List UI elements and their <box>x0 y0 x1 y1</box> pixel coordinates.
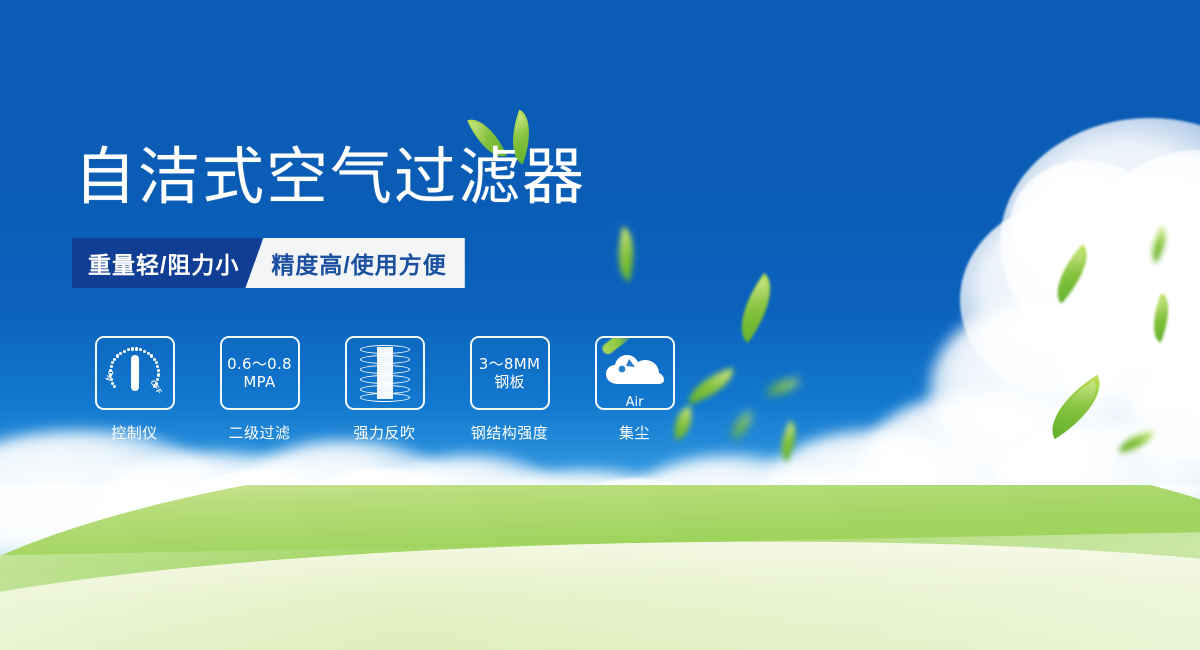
steel-value-line1: 3～8MM <box>479 355 540 373</box>
feature-item-dust[interactable]: Air 集尘 <box>572 336 697 443</box>
feature-label: 二级过滤 <box>228 422 290 443</box>
feature-item-blowback[interactable]: 强力反吹 <box>322 336 447 443</box>
gauge-tick <box>127 348 130 351</box>
page-title: 自洁式空气过滤器 <box>74 146 586 208</box>
gauge-tick <box>123 350 126 353</box>
air-text-label: Air <box>604 395 666 410</box>
air-cloud-icon: Air <box>604 350 666 396</box>
gauge-tick <box>109 373 112 376</box>
feature-item-control[interactable]: NO OFF 控制仪 <box>72 336 197 443</box>
gauge-tick <box>150 354 153 357</box>
gauge-tick <box>156 365 159 368</box>
subtitle-ribbon: 重量轻/阻力小 精度高/使用方便 <box>72 238 465 288</box>
steel-value-line2: 钢板 <box>494 373 525 391</box>
feature-icon-row: NO OFF 控制仪 0.6～0.8 MPA 二级过滤 <box>72 336 697 443</box>
gauge-tick <box>135 347 138 350</box>
feature-box-pressure: 0.6～0.8 MPA <box>220 336 300 410</box>
feature-label: 控制仪 <box>111 422 158 443</box>
stack-disc <box>360 345 410 354</box>
gauge-tick <box>111 361 114 364</box>
gauge-tick <box>157 369 160 372</box>
gauge-tick <box>110 365 113 368</box>
gauge-tick <box>110 378 113 381</box>
gauge-tick <box>119 352 122 355</box>
feature-label: 集尘 <box>619 422 650 443</box>
feature-item-steel[interactable]: 3～8MM 钢板 钢结构强度 <box>447 336 572 443</box>
control-gauge-icon: NO OFF <box>106 346 164 400</box>
gauge-tick <box>139 348 142 351</box>
gauge-tick <box>113 358 116 361</box>
feature-label: 钢结构强度 <box>471 422 549 443</box>
gauge-tick <box>143 350 146 353</box>
stack-disc <box>360 375 410 384</box>
filter-stack-icon <box>360 345 410 401</box>
feature-item-pressure[interactable]: 0.6～0.8 MPA 二级过滤 <box>197 336 322 443</box>
gauge-needle <box>131 355 139 391</box>
stack-disc <box>360 393 410 402</box>
feature-box-control: NO OFF <box>95 336 175 410</box>
pressure-value-line2: MPA <box>243 373 275 391</box>
feature-box-dust: Air <box>595 336 675 410</box>
stack-disc <box>360 355 410 364</box>
feature-box-steel: 3～8MM 钢板 <box>470 336 550 410</box>
gauge-tick <box>116 354 119 357</box>
gauge-tick <box>156 378 159 381</box>
hero-banner: 自洁式空气过滤器 重量轻/阻力小 精度高/使用方便 NO OFF 控制仪 <box>0 0 1200 650</box>
feature-box-blowback <box>345 336 425 410</box>
banner-content: 自洁式空气过滤器 重量轻/阻力小 精度高/使用方便 NO OFF 控制仪 <box>0 0 1200 650</box>
stack-disc <box>360 365 410 374</box>
pressure-value-line1: 0.6～0.8 <box>227 355 292 373</box>
gauge-tick <box>155 361 158 364</box>
ribbon-segment-left: 重量轻/阻力小 <box>72 238 261 288</box>
ribbon-segment-right: 精度高/使用方便 <box>245 238 464 288</box>
gauge-tick <box>113 385 116 388</box>
cloud-glyph <box>604 350 666 390</box>
gauge-tick <box>131 347 134 350</box>
gauge-tick <box>157 373 160 376</box>
feature-label: 强力反吹 <box>353 422 415 443</box>
